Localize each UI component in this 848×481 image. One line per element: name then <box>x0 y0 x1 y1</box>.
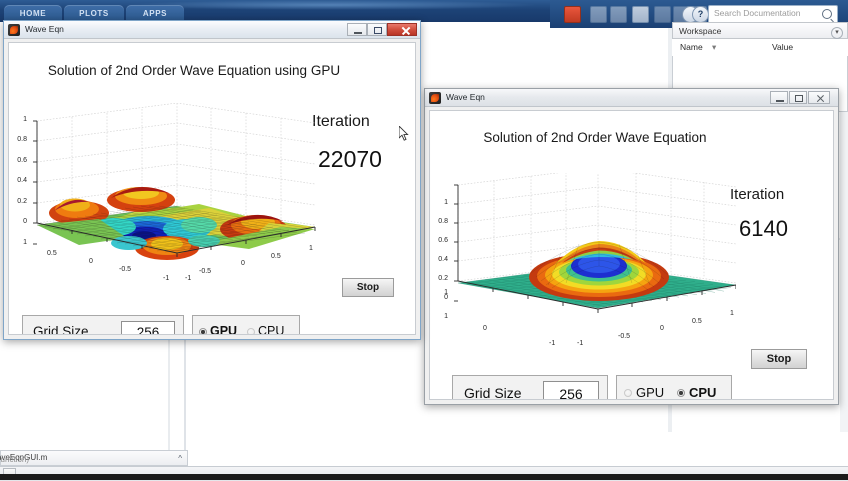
figure-cpu-title: Wave Eqn <box>446 92 485 102</box>
gpu-x-tick--05: -0.5 <box>199 268 211 275</box>
minimize-icon[interactable] <box>770 91 788 104</box>
gpu-x-tick--1: -1 <box>185 275 191 282</box>
figure-gpu-iteration-label: Iteration <box>312 113 370 131</box>
gpu-y-tick-0: 0 <box>89 258 93 265</box>
toolbar-icon-4[interactable] <box>632 6 649 23</box>
figure-cpu-surface-plot: 1 1 0.8 0.6 0.4 0.2 0 1 0 -1 -1 -0.5 0 0… <box>436 173 736 358</box>
workspace-sort-arrow-icon: ▾ <box>712 42 716 53</box>
workspace-panel-header: Workspace ▾ <box>672 22 848 39</box>
minimize-icon[interactable] <box>347 23 367 36</box>
workspace-options-icon[interactable]: ▾ <box>831 27 843 39</box>
gpu-y-tick-1: 1 <box>9 239 27 246</box>
workspace-column-headers: Name ▾ Value <box>672 39 848 57</box>
figure-gpu-heading: Solution of 2nd Order Wave Equation usin… <box>9 63 379 78</box>
matlab-figure-icon <box>429 92 441 104</box>
close-icon[interactable] <box>808 91 830 104</box>
editor-status-bar: aveEqnGUI.m (Function) ^ <box>0 450 188 466</box>
figure-gpu-grid-size-input[interactable]: 256 <box>121 321 175 334</box>
toolbar-icon-2[interactable] <box>590 6 607 23</box>
gpu-x-tick-05: 0.5 <box>271 253 281 260</box>
mouse-cursor <box>399 126 410 142</box>
gpu-z-tick-02: 0.2 <box>9 198 27 205</box>
cpu-y-tick-05: 0 <box>483 325 487 332</box>
editor-file-kind: (Function) <box>0 455 29 464</box>
figure-cpu-radio-gpu[interactable] <box>624 389 632 397</box>
maximize-icon[interactable] <box>789 91 807 104</box>
figure-gpu-iteration-value: 22070 <box>318 146 382 173</box>
figure-gpu-canvas: Solution of 2nd Order Wave Equation usin… <box>8 42 416 335</box>
gpu-x-tick-1: 1 <box>309 245 313 252</box>
cpu-z-tick-06: 0.6 <box>430 237 448 244</box>
gpu-z-tick-04: 0.4 <box>9 177 27 184</box>
figure-cpu-radio-gpu-label[interactable]: GPU <box>636 385 664 399</box>
gpu-x-tick-0: 0 <box>241 260 245 267</box>
figure-gpu-stop-button[interactable]: Stop <box>342 278 394 297</box>
editor-status-text: aveEqnGUI.m (Function) <box>0 453 47 462</box>
cpu-z-tick-1: 1 <box>430 199 448 206</box>
editor-collapse-icon[interactable]: ^ <box>178 454 182 463</box>
gpu-z-tick-06: 0.6 <box>9 157 27 164</box>
gpu-z-tick-00: 0 <box>9 218 27 225</box>
figure-cpu-stop-button[interactable]: Stop <box>751 349 807 369</box>
figure-window-cpu[interactable]: Wave Eqn Solution of 2nd Order Wave Equa… <box>424 88 839 405</box>
cpu-z-tick-04: 0.4 <box>430 256 448 263</box>
gpu-y-tick--05: -0.5 <box>119 266 131 273</box>
screen-bottom-edge <box>0 474 848 480</box>
workspace-title: Workspace <box>679 26 721 36</box>
toolbar-icon-5[interactable] <box>654 6 671 23</box>
gpu-z-tick-08: 0.8 <box>9 136 27 143</box>
figure-cpu-heading: Solution of 2nd Order Wave Equation <box>430 130 760 145</box>
figure-cpu-grid-size-label: Grid Size <box>464 385 522 399</box>
cpu-y-tick-1: 1 <box>430 313 448 320</box>
figure-gpu-surface-plot: 1 0.8 0.6 0.4 0.2 0 1 0.5 0 -0.5 -1 -1 -… <box>19 103 319 303</box>
cpu-z-tick-00: 0 <box>430 294 448 301</box>
figure-gpu-titlebar[interactable]: Wave Eqn <box>4 21 420 39</box>
matlab-logo-icon[interactable] <box>564 6 581 23</box>
cpu-x-tick-0: 0 <box>660 325 664 332</box>
matlab-figure-icon <box>8 24 20 36</box>
toolbar-icon-3[interactable] <box>610 6 627 23</box>
cpu-y-tick--1: -1 <box>549 340 555 347</box>
cpu-x-tick-1: 1 <box>730 310 734 317</box>
figure-gpu-radio-gpu[interactable] <box>199 328 207 334</box>
gpu-y-tick-05: 0.5 <box>47 250 57 257</box>
figure-cpu-canvas: Solution of 2nd Order Wave Equation Iter… <box>429 110 834 400</box>
figure-gpu-radio-gpu-label[interactable]: GPU <box>210 324 237 334</box>
figure-cpu-radio-cpu-label[interactable]: CPU <box>689 385 716 399</box>
figure-gpu-grid-size-label: Grid Size <box>33 324 89 334</box>
cpu-x-tick--1: -1 <box>577 340 583 347</box>
workspace-column-name[interactable]: Name <box>680 42 703 52</box>
figure-cpu-iteration-value: 6140 <box>739 216 788 242</box>
gpu-z-tick-1: 1 <box>9 116 27 123</box>
figure-cpu-iteration-label: Iteration <box>730 186 784 203</box>
figure-cpu-radio-cpu[interactable] <box>677 389 685 397</box>
figure-window-gpu[interactable]: Wave Eqn Solution of 2nd Order Wave Equa… <box>3 20 421 340</box>
cpu-x-tick--05: -0.5 <box>618 333 630 340</box>
figure-gpu-radio-cpu-label[interactable]: CPU <box>258 324 284 334</box>
gpu-y-tick--1: -1 <box>163 275 169 282</box>
search-placeholder: Search Documentation <box>714 8 800 18</box>
close-icon[interactable] <box>387 23 417 36</box>
cpu-z-tick-08: 0.8 <box>430 218 448 225</box>
figure-cpu-titlebar[interactable]: Wave Eqn <box>425 89 838 107</box>
workspace-column-value[interactable]: Value <box>772 42 793 52</box>
figure-cpu-grid-size-input[interactable]: 256 <box>543 381 599 399</box>
figure-gpu-title: Wave Eqn <box>25 24 64 34</box>
cpu-x-tick-05: 0.5 <box>692 318 702 325</box>
magnifier-icon <box>822 9 832 19</box>
maximize-icon[interactable] <box>367 23 387 36</box>
cpu-z-tick-02: 0.2 <box>430 275 448 282</box>
figure-gpu-radio-cpu[interactable] <box>247 328 255 334</box>
help-icon[interactable]: ? <box>692 6 709 23</box>
